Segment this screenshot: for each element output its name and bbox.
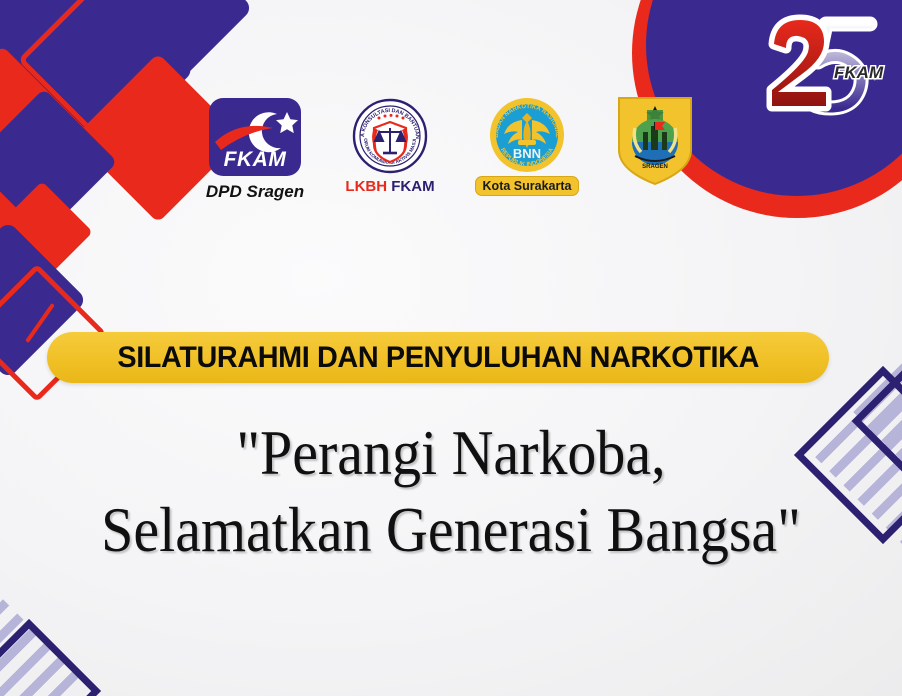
sragen-motto-text: SRAGEN xyxy=(642,164,668,170)
logo-row: FKAM DPD Sragen LEMBAGA KONSULTASI DAN B… xyxy=(190,82,740,222)
fkam-caption: DPD Sragen xyxy=(190,182,320,202)
logo-lkbh-fkam: LEMBAGA KONSULTASI DAN BANTUAN HUKUM FOR… xyxy=(330,98,450,195)
logo-sragen-emblem: SRAGEN xyxy=(600,92,710,186)
bnn-caption: Kota Surakarta xyxy=(475,176,580,196)
anniversary-25-logo: FKAM FKAM xyxy=(752,8,892,116)
fkam-mark-text: FKAM xyxy=(209,148,301,172)
lkbh-caption: LKBH FKAM xyxy=(330,178,450,195)
lkbh-caption-b: FKAM xyxy=(391,178,434,195)
logo-fkam: FKAM DPD Sragen xyxy=(190,98,320,202)
logo-bnn: BADAN NARKOTIKA NASIONAL REPUBLIK INDONE… xyxy=(462,96,592,196)
lkbh-caption-a: LKBH xyxy=(345,178,387,195)
bnn-emblem: BADAN NARKOTIKA NASIONAL REPUBLIK INDONE… xyxy=(488,96,566,174)
event-title-banner: SILATURAHMI DAN PENYULUHAN NARKOTIKA xyxy=(47,332,829,383)
lkbh-emblem: LEMBAGA KONSULTASI DAN BANTUAN HUKUM FOR… xyxy=(352,98,428,174)
campaign-slogan: "Perangi Narkoba, Selamatkan Generasi Ba… xyxy=(36,415,866,569)
anniversary-digit-2 xyxy=(772,20,826,106)
poster-canvas: FKAM FKAM FKAM DPD Sragen xyxy=(0,0,902,696)
bnn-mark-text: BNN xyxy=(513,146,541,161)
slogan-line-1: "Perangi Narkoba, xyxy=(36,415,866,492)
fkam-badge: FKAM xyxy=(209,98,301,176)
sragen-shield: SRAGEN xyxy=(613,92,697,186)
slogan-line-2: Selamatkan Generasi Bangsa" xyxy=(36,492,866,569)
event-title-text: SILATURAHMI DAN PENYULUHAN NARKOTIKA xyxy=(117,341,759,375)
svg-text:FKAM: FKAM xyxy=(834,63,884,82)
